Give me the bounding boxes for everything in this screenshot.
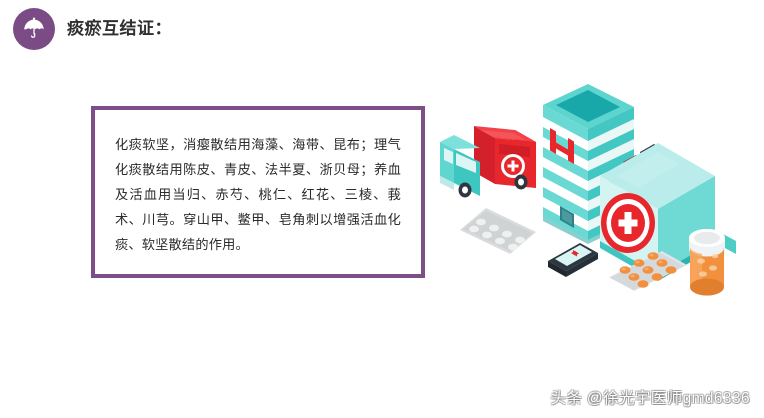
content-box: 化痰软坚，消瘿散结用海藻、海带、昆布；理气化痰散结用陈皮、青皮、法半夏、浙贝母；… <box>91 106 425 278</box>
pill-bottle <box>689 229 736 296</box>
page-title: 痰瘀互结证： <box>67 20 172 39</box>
blister-pack-white <box>460 208 536 254</box>
page-header: 痰瘀互结证： <box>13 8 172 50</box>
umbrella-icon <box>21 16 47 42</box>
content-box-inner: 化痰软坚，消瘿散结用海藻、海带、昆布；理气化痰散结用陈皮、青皮、法半夏、浙贝母；… <box>95 110 421 274</box>
treatment-description: 化痰软坚，消瘿散结用海藻、海带、昆布；理气化痰散结用陈皮、青皮、法半夏、浙贝母；… <box>115 132 401 257</box>
umbrella-badge <box>13 8 55 50</box>
smartphone <box>548 243 598 277</box>
watermark: 头条 @徐光宇医师gmd6336 <box>550 386 750 408</box>
isometric-medical-illustration <box>440 78 764 324</box>
ambulance-truck <box>440 126 536 198</box>
